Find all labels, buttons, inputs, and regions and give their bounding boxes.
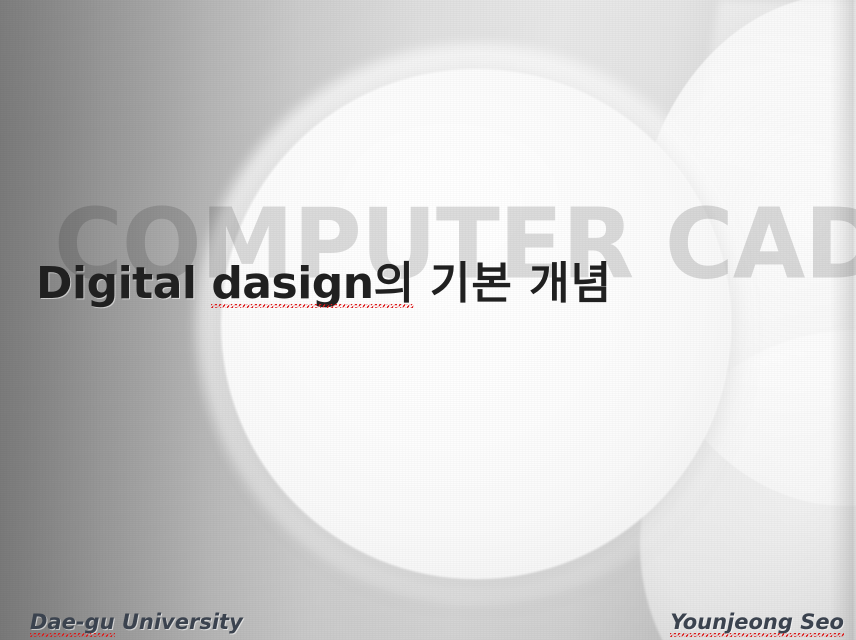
title-misspelled-word: dasign의 [211,258,413,310]
footer-institution-rest: University [115,610,243,634]
footer-author-name: Younjeong Seo [670,610,844,634]
presentation-slide: COMPUTER CAD Digital dasign의 기본 개념 Dae-g… [0,0,856,640]
slide-background-right-edge [830,0,856,640]
slide-title: Digital dasign의 기본 개념 [36,258,612,310]
title-part-leading: Digital [36,258,211,309]
footer-author: Younjeong Seo [670,610,844,634]
title-part-korean: 기본 개념 [414,258,613,309]
footer-institution: Dae-gu University [30,610,243,634]
footer-institution-misspelled: Dae-gu [30,610,115,634]
